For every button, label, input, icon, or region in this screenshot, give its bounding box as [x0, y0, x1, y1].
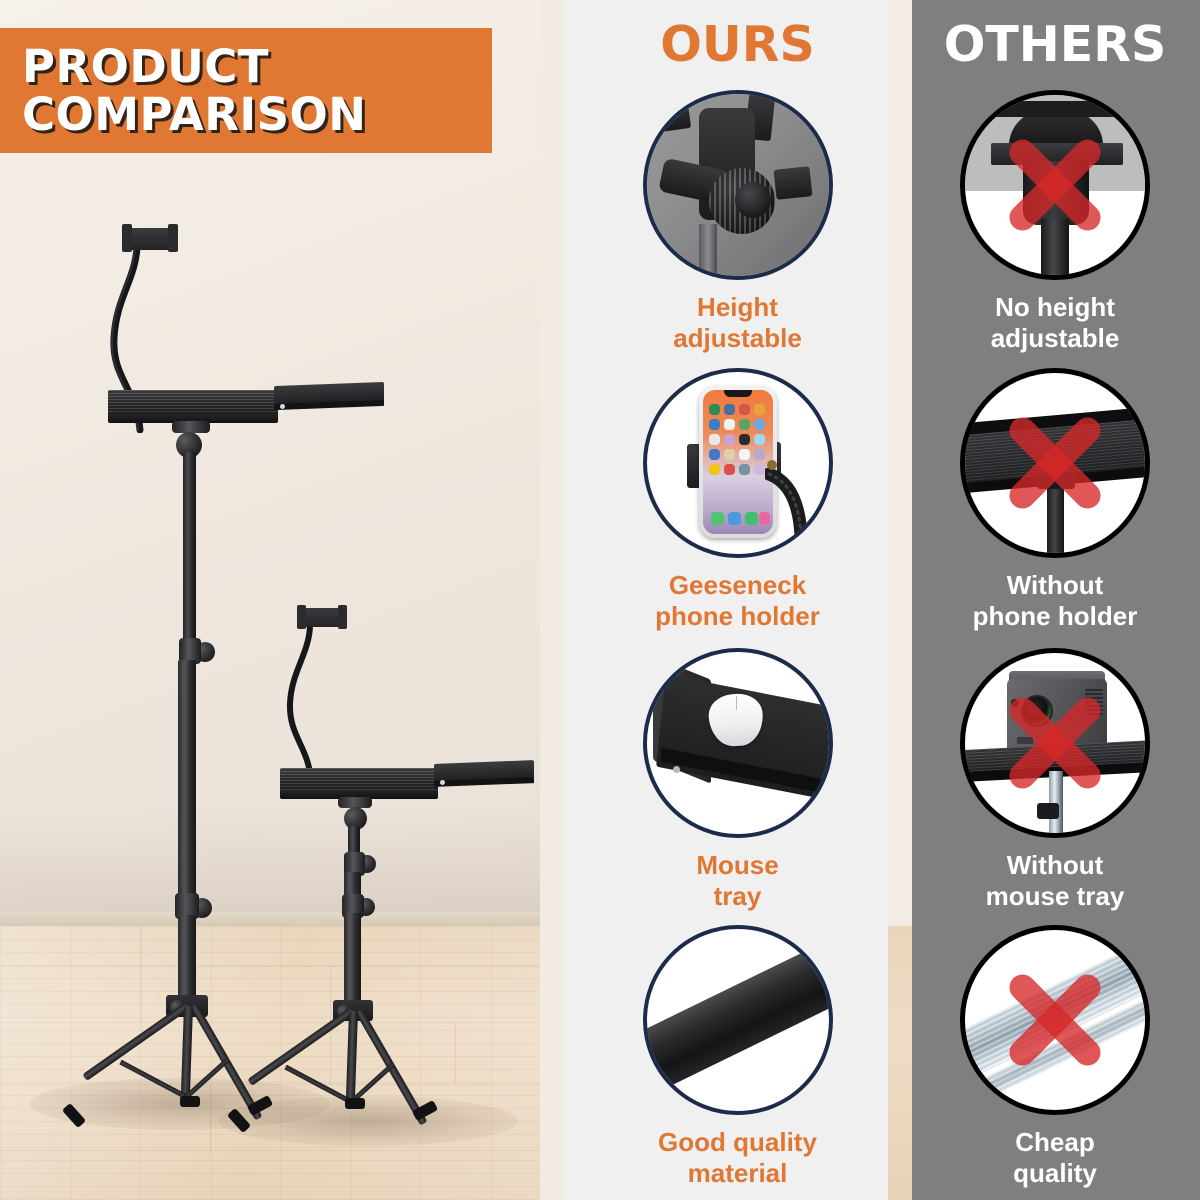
gooseneck-flex-arm: [765, 468, 829, 558]
caption-line-2: adjustable: [910, 323, 1200, 354]
fixed-mount-pole: [1041, 219, 1069, 280]
others-feature-no-mouse-tray: Without mouse tray: [910, 648, 1200, 911]
others-image-no-phone-holder: [960, 368, 1150, 558]
others-caption-no-mouse-tray: Without mouse tray: [910, 850, 1200, 911]
caption-line-1: Without: [910, 850, 1200, 881]
phone-clamp-jaw-right-tall: [168, 224, 178, 252]
mouse-tray-screw-short: [440, 780, 445, 785]
caption-line-2: quality: [910, 1158, 1200, 1189]
laptop-tray-tall: [108, 390, 278, 416]
caption-line-1: Geeseneck: [565, 570, 910, 601]
tripod-foot-center-tall: [180, 1096, 200, 1107]
others-caption-no-phone-holder: Without phone holder: [910, 570, 1200, 631]
ours-image-height-adjustable: [643, 90, 833, 280]
ours-feature-height-adjustable: Height adjustable: [565, 90, 910, 353]
others-feature-no-height-adjustable: No height adjustable: [910, 90, 1200, 353]
title-line-2: COMPARISON: [22, 91, 492, 138]
panel-divider-right-floor: [888, 926, 912, 1200]
ours-feature-phone-holder: Geeseneck phone holder: [565, 368, 910, 631]
ours-column: OURS Height adjustable: [565, 0, 910, 1200]
others-image-cheap-quality: [960, 925, 1150, 1115]
projector-pole-knob: [1037, 803, 1059, 819]
ours-caption-material: Good quality material: [565, 1127, 910, 1188]
dock-app-phone: [711, 512, 724, 525]
dock-app-safari: [745, 512, 758, 525]
laptop-tray-short: [280, 768, 438, 792]
projector-sensor: [1011, 699, 1019, 707]
caption-line-2: mouse tray: [910, 881, 1200, 912]
others-column-header: OTHERS: [910, 16, 1200, 73]
caption-line-2: material: [565, 1158, 910, 1189]
phone-clamp-jaw-left-tall: [122, 224, 132, 252]
knob-bracket-upper-left: [656, 94, 690, 132]
others-caption-cheap-quality: Cheap quality: [910, 1127, 1200, 1188]
base-pole-short: [344, 913, 361, 1013]
panel-divider-left: [540, 0, 566, 1200]
ours-caption-phone-holder: Geeseneck phone holder: [565, 570, 910, 631]
caption-line-2: tray: [565, 881, 910, 912]
ours-column-header: OURS: [565, 16, 910, 73]
adjustment-knob-cap: [735, 182, 771, 218]
caption-line-1: Without: [910, 570, 1200, 601]
projector-lens: [1021, 695, 1053, 727]
lower-pole-tall: [178, 660, 196, 910]
wall-shadow: [0, 805, 565, 925]
title-line-1: PRODUCT: [22, 43, 492, 90]
dock-app-mail: [728, 512, 741, 525]
knob-pole-below: [699, 224, 717, 280]
others-caption-no-height-adjustable: No height adjustable: [910, 292, 1200, 353]
others-column: OTHERS No height adjustable: [910, 0, 1200, 1200]
tray-screw-hole: [673, 766, 680, 773]
ours-image-material: [643, 925, 833, 1115]
caption-line-2: adjustable: [565, 323, 910, 354]
caption-line-1: Good quality: [565, 1127, 910, 1158]
ours-feature-material: Good quality material: [565, 925, 910, 1188]
caption-line-1: Mouse: [565, 850, 910, 881]
others-image-no-height-adjustable: [960, 90, 1150, 280]
upper-pole-tall: [183, 452, 196, 652]
others-feature-no-phone-holder: Without phone holder: [910, 368, 1200, 631]
caption-line-1: Cheap: [910, 1127, 1200, 1158]
ours-caption-height-adjustable: Height adjustable: [565, 292, 910, 353]
base-pole-tall: [178, 915, 196, 1007]
smartphone-notch: [724, 390, 752, 397]
caption-line-1: Height: [565, 292, 910, 323]
phone-clamp-jaw-right-short: [338, 605, 347, 629]
smartphone-screen: [703, 390, 773, 534]
others-image-no-mouse-tray: [960, 648, 1150, 838]
gooseneck-arm-short: [278, 618, 368, 783]
plain-tray-mount: [1037, 473, 1075, 489]
black-steel-tube: [643, 929, 833, 1102]
ours-image-phone-holder: [643, 368, 833, 558]
caption-line-2: phone holder: [910, 601, 1200, 632]
others-feature-cheap-quality: Cheap quality: [910, 925, 1200, 1188]
title-banner: PRODUCT COMPARISON: [0, 28, 492, 153]
mount-bar: [987, 101, 1127, 117]
fixed-mount-stem: [1023, 161, 1089, 225]
projector-logo: [1017, 737, 1033, 744]
phone-clamp-jaw-left-short: [297, 605, 306, 629]
caption-line-2: phone holder: [565, 601, 910, 632]
ours-caption-mouse-tray: Mouse tray: [565, 850, 910, 911]
product-photo-panel: [0, 0, 565, 1200]
projector-vent-grill: [1085, 689, 1103, 715]
caption-line-1: No height: [910, 292, 1200, 323]
mouse-button-split: [736, 696, 737, 710]
mouse-tray-screw-tall: [280, 404, 285, 409]
holder-pivot-screw: [767, 460, 777, 470]
knob-bracket-right: [773, 166, 812, 200]
ours-feature-mouse-tray: Mouse tray: [565, 648, 910, 911]
ours-image-mouse-tray: [643, 648, 833, 838]
product-comparison-infographic: PRODUCT COMPARISON OURS H: [0, 0, 1200, 1200]
tripod-foot-center-short: [345, 1098, 365, 1109]
plain-tray-pole: [1047, 481, 1064, 558]
